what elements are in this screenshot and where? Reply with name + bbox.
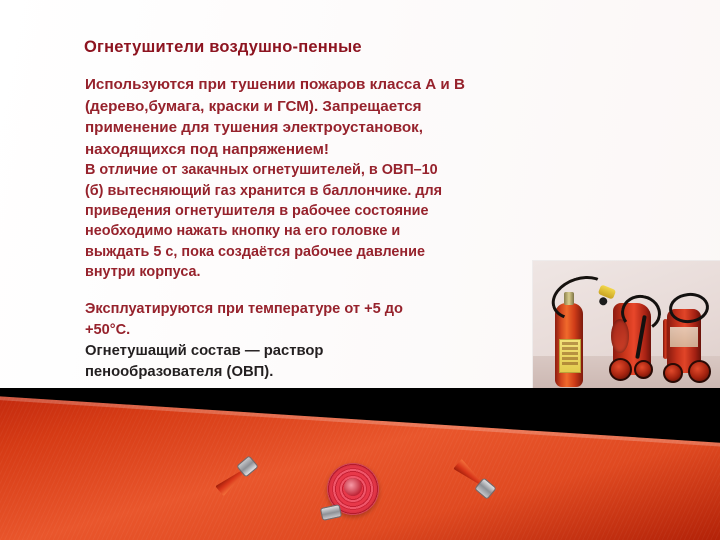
fire-extinguisher-wheeled-right-icon (661, 295, 709, 383)
wheel-icon (688, 360, 711, 383)
slide-body: Используются при тушении пожаров класса … (85, 74, 535, 383)
text-line: внутри корпуса. (85, 264, 201, 280)
paragraph-spacer (85, 282, 535, 299)
text-line: приведения огнетушителя в рабочее состоя… (85, 203, 429, 219)
wheel-icon (634, 360, 653, 379)
text-line: находящихся под напряжением! (85, 141, 329, 158)
fire-hose-coil-icon (327, 463, 379, 515)
text-line: применение для тушения электроустановок, (85, 119, 423, 136)
extinguisher-label (670, 327, 698, 347)
text-line: В отличие от закачных огнетушителей, в О… (85, 162, 438, 178)
text-line: (б) вытесняющий газ хранится в баллончик… (85, 183, 442, 199)
paragraph-agent: Огнетушащий состав — раствор пенообразов… (85, 341, 535, 383)
text-line: +50°C. (85, 322, 130, 338)
text-line: Эксплуатируются при температуре от +5 до (85, 301, 403, 317)
text-line: Используются при тушении пожаров класса … (85, 76, 465, 93)
extinguisher-label (559, 339, 581, 373)
text-line: Огнетушащий состав — раствор (85, 343, 323, 359)
slide-canvas: Огнетушители воздушно-пенные Используютс… (0, 0, 720, 540)
coil-hub (344, 478, 362, 496)
fire-extinguisher-wheeled-left-icon (609, 297, 653, 381)
text-line: необходимо нажать кнопку на его головке … (85, 223, 400, 239)
text-line: пенообразователя (ОВП). (85, 364, 273, 380)
text-line: (дерево,бумага, краски и ГСМ). Запрещает… (85, 98, 422, 115)
slide-title: Огнетушители воздушно-пенные (84, 38, 644, 56)
text-line: выждать 5 с, пока создаётся рабочее давл… (85, 244, 425, 260)
paragraph-usage: Используются при тушении пожаров класса … (85, 74, 535, 160)
wheel-icon (663, 363, 683, 383)
extinguisher-pipe (663, 319, 668, 359)
paragraph-temperature: Эксплуатируются при температуре от +5 до… (85, 299, 535, 340)
paragraph-operation: В отличие от закачных огнетушителей, в О… (85, 160, 535, 282)
wheel-icon (609, 358, 632, 381)
fire-extinguishers-photo (533, 261, 720, 397)
